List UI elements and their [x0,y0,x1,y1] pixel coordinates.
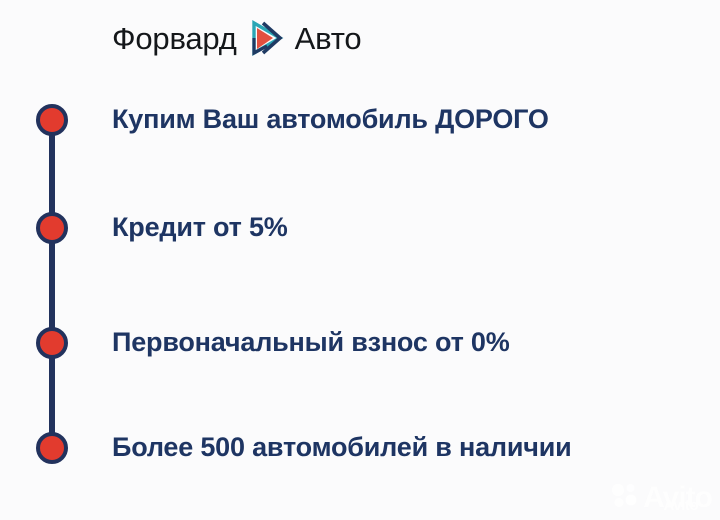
timeline-connector-line [49,120,55,448]
avito-watermark-sublabel: Avito [664,497,698,514]
timeline-node-2 [36,212,68,244]
feature-item-4: Более 500 автомобилей в наличии [112,432,572,463]
feature-item-2: Кредит от 5% [112,212,288,243]
feature-list: Купим Ваш автомобиль ДОРОГО Кредит от 5%… [112,0,712,520]
avito-dots-icon [611,481,639,514]
timeline-node-4 [36,432,68,464]
timeline-node-3 [36,327,68,359]
feature-item-1: Купим Ваш автомобиль ДОРОГО [112,104,549,135]
ad-canvas: Форвард Авто Купим Ваш автомобиль ДОРОГО… [0,0,720,520]
feature-item-3: Первоначальный взнос от 0% [112,327,510,358]
timeline-node-1 [36,104,68,136]
avito-watermark: Avito Avito [611,481,712,514]
timeline-rail [0,0,120,520]
